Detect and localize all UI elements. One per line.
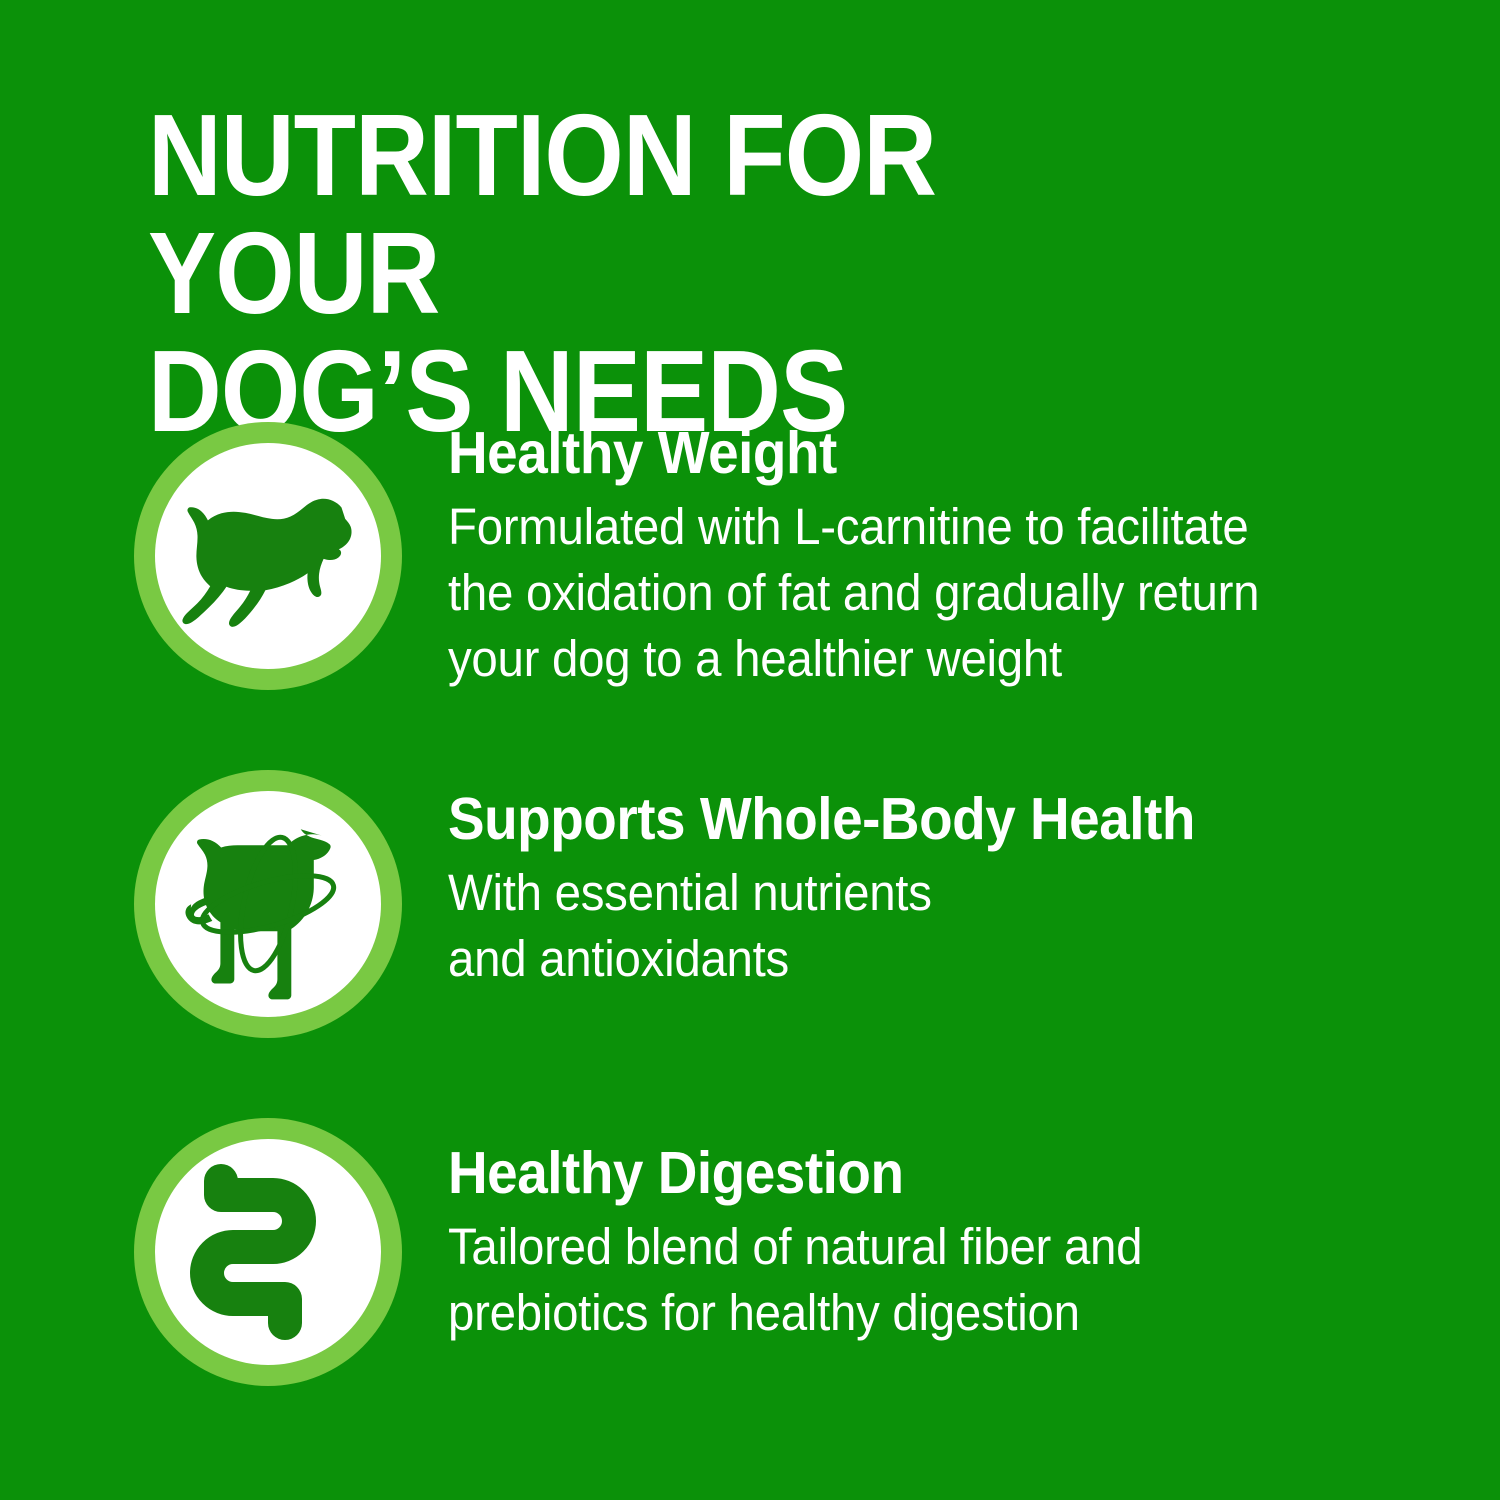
feature-row-healthy-weight: Healthy Weight Formulated with L-carniti…: [0, 422, 1500, 692]
nutrition-benefits-poster: NUTRITION FOR YOUR DOG’S NEEDS Healthy W…: [0, 0, 1500, 1500]
feature-text-healthy-weight: Healthy Weight Formulated with L-carniti…: [448, 422, 1460, 692]
feature-title: Healthy Weight: [448, 422, 1389, 484]
intestine-icon: [155, 1139, 381, 1365]
feature-title: Healthy Digestion: [448, 1142, 1389, 1204]
intestine-icon-badge: [134, 1118, 402, 1386]
jumping-dog-icon-badge: [134, 422, 402, 690]
dog-with-orbit-rings-icon: [155, 791, 381, 1017]
feature-title: Supports Whole-Body Health: [448, 788, 1389, 850]
feature-text-healthy-digestion: Healthy Digestion Tailored blend of natu…: [448, 1142, 1460, 1346]
feature-text-whole-body-health: Supports Whole-Body Health With essentia…: [448, 788, 1460, 992]
feature-row-whole-body-health: Supports Whole-Body Health With essentia…: [0, 770, 1500, 1038]
page-title: NUTRITION FOR YOUR DOG’S NEEDS: [148, 96, 1230, 450]
feature-body: With essential nutrients and antioxidant…: [448, 860, 1389, 992]
dog-with-orbit-rings-icon-badge: [134, 770, 402, 1038]
feature-body: Tailored blend of natural fiber and preb…: [448, 1214, 1389, 1346]
feature-body: Formulated with L-carnitine to facilitat…: [448, 494, 1389, 692]
feature-row-healthy-digestion: Healthy Digestion Tailored blend of natu…: [0, 1118, 1500, 1386]
jumping-dog-icon: [155, 443, 381, 669]
